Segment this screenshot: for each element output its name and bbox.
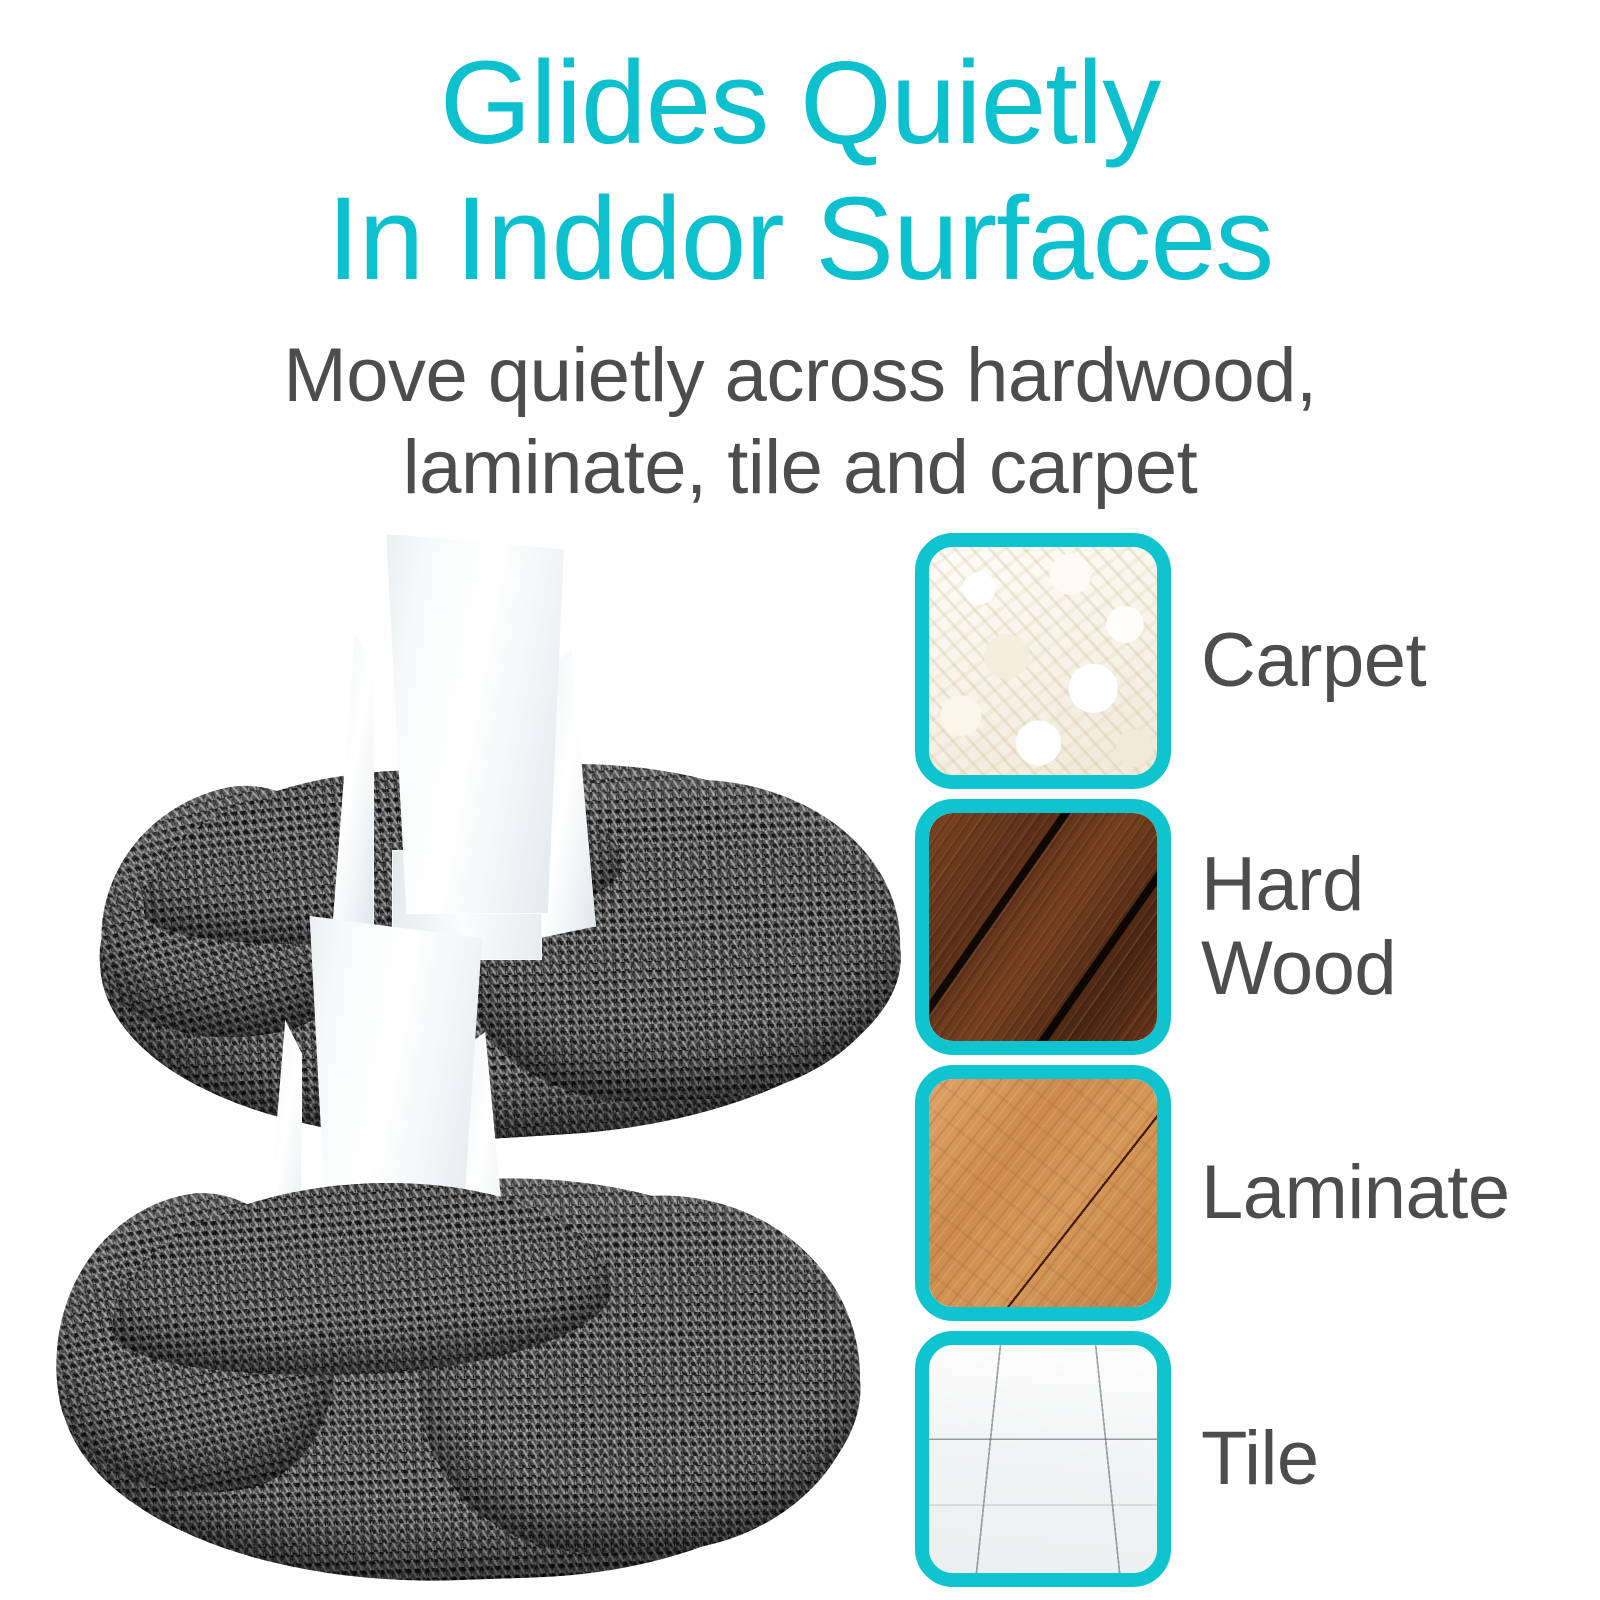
swatch-carpet[interactable] (915, 533, 1171, 789)
subtitle-line-1: Move quietly across hardwood, (0, 304, 1600, 422)
swatch-tile[interactable] (915, 1331, 1171, 1587)
headline-line-1: Glides Quietly (0, 0, 1600, 168)
surface-row-hardwood[interactable]: Hard Wood (900, 794, 1600, 1060)
header-block: Glides Quietly In Inddor Surfaces Move q… (0, 0, 1600, 514)
surface-label-hardwood: Hard Wood (1201, 843, 1396, 1011)
surface-row-laminate[interactable]: Laminate (900, 1060, 1600, 1326)
subtitle-line-2: laminate, tile and carpet (0, 422, 1600, 514)
headline-line-2: In Inddor Surfaces (0, 168, 1600, 304)
surface-label-laminate: Laminate (1201, 1151, 1510, 1235)
surface-row-tile[interactable]: Tile (900, 1326, 1600, 1592)
surface-label-tile: Tile (1201, 1417, 1319, 1501)
tile-texture-icon (929, 1345, 1157, 1573)
surface-label-carpet: Carpet (1201, 619, 1426, 703)
hardwood-texture-icon (929, 813, 1157, 1041)
carpet-texture-icon (929, 547, 1157, 775)
surface-list: Carpet Hard Wood Laminate Tile (900, 528, 1600, 1592)
laminate-texture-icon (929, 1079, 1157, 1307)
product-image (40, 520, 900, 1590)
swatch-hardwood[interactable] (915, 799, 1171, 1055)
swatch-laminate[interactable] (915, 1065, 1171, 1321)
surface-row-carpet[interactable]: Carpet (900, 528, 1600, 794)
